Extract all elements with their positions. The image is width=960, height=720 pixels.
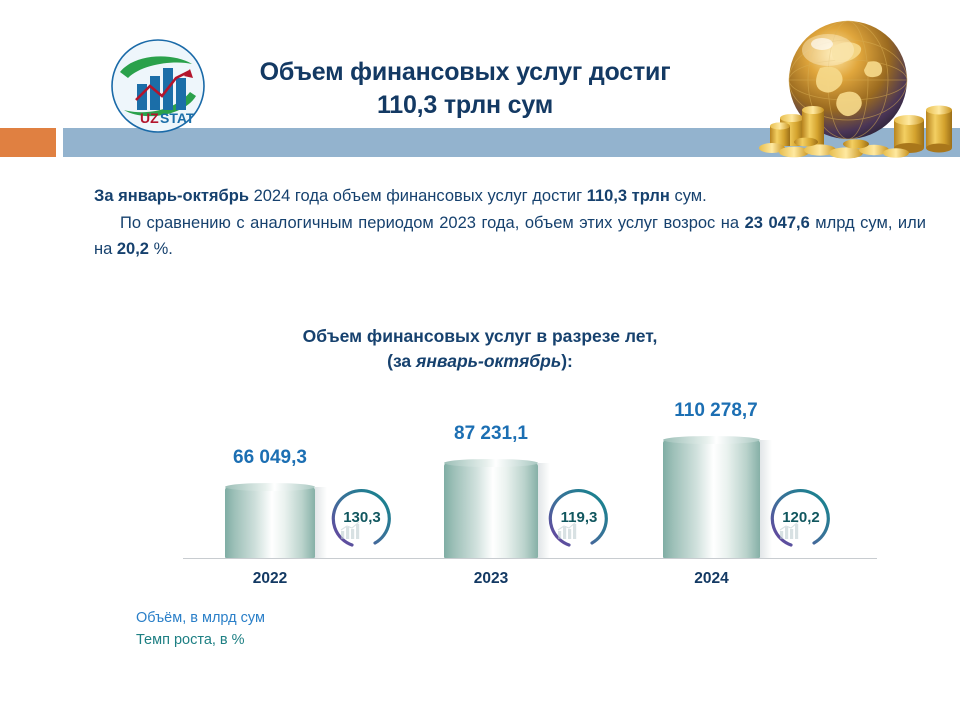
slide-root: UZ STAT Объем финансовых услуг достиг 11… (0, 0, 960, 720)
body-highlight-period: За январь-октябрь (94, 187, 249, 205)
bar-category-2023: 2023 (444, 570, 538, 588)
bar-shadow-2022 (315, 487, 327, 558)
chart-title-line-1: Объем финансовых услуг в разрезе лет, (180, 324, 780, 349)
bar-value-2022: 66 049,3 (215, 447, 325, 469)
uzstat-logo-icon: UZ STAT (110, 38, 206, 134)
growth-value-2022: 130,3 (328, 509, 396, 526)
header-band-orange (0, 128, 56, 157)
legend-item-growth-rate: Темп роста, в % (136, 630, 265, 652)
body-highlight-percent: 20,2 (117, 240, 149, 258)
growth-value-2024: 120,2 (767, 509, 835, 526)
page-title-line-1: Объем финансовых услуг достиг (215, 56, 715, 89)
body-line-2-tail: %. (149, 240, 173, 258)
globe-icon (736, 14, 960, 162)
body-line-1-tail: сум. (670, 187, 707, 205)
growth-badge-2024: 120,2 (767, 485, 835, 553)
page-title-line-2: 110,3 трлн сум (215, 89, 715, 122)
bar-value-2023: 87 231,1 (436, 423, 546, 445)
body-line-2-lead: По сравнению с аналогичным периодом 2023… (120, 214, 745, 232)
bar-chart: 66 049,3 2022 (0, 390, 960, 600)
growth-badge-2023: 119,3 (545, 485, 613, 553)
chart-title-paren-close: ): (561, 351, 573, 371)
bar-2023 (444, 463, 538, 558)
chart-baseline (183, 558, 877, 559)
logo-text-stat: STAT (160, 110, 195, 126)
body-line-1-mid: 2024 года объем финансовых услуг достиг (249, 187, 587, 205)
chart-title-period: январь-октябрь (416, 351, 561, 371)
globe-coins-illustration (736, 14, 960, 162)
body-line-1: За январь-октябрь 2024 года объем финанс… (94, 183, 926, 210)
body-paragraph: За январь-октябрь 2024 года объем финанс… (94, 183, 926, 263)
bar-category-2024: 2024 (663, 570, 760, 588)
body-highlight-total: 110,3 трлн (587, 187, 670, 205)
chart-legend: Объём, в млрд сум Темп роста, в % (136, 608, 265, 652)
bar-category-2022: 2022 (225, 570, 315, 588)
legend-item-volume: Объём, в млрд сум (136, 608, 265, 630)
page-title: Объем финансовых услуг достиг 110,3 трлн… (215, 56, 715, 122)
bar-value-2024: 110 278,7 (656, 400, 776, 422)
uzstat-logo: UZ STAT (110, 38, 206, 134)
chart-title-paren-open: (за (387, 351, 416, 371)
body-line-2: По сравнению с аналогичным периодом 2023… (94, 210, 926, 263)
coin-stack-right (894, 106, 952, 154)
bar-2024 (663, 440, 760, 558)
body-highlight-increase: 23 047,6 (745, 214, 810, 232)
chart-title-line-2: (за январь-октябрь): (180, 349, 780, 374)
growth-value-2023: 119,3 (545, 509, 613, 526)
logo-text-uz: UZ (140, 110, 159, 126)
growth-badge-2022: 130,3 (328, 485, 396, 553)
bar-2022 (225, 487, 315, 558)
chart-title: Объем финансовых услуг в разрезе лет, (з… (180, 324, 780, 375)
